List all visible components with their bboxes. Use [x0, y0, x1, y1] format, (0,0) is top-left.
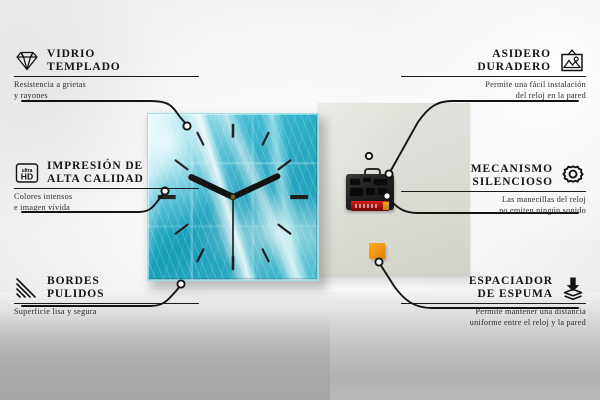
- feature-divider: [401, 76, 586, 77]
- feature-title: BORDES PULIDOS: [47, 275, 104, 301]
- feature-block-silent: MECANISMO SILENCIOSO Las manecillas del …: [401, 163, 586, 216]
- feature-title: MECANISMO SILENCIOSO: [471, 163, 553, 189]
- feature-divider: [14, 303, 199, 304]
- ultra-hd-icon: ultra HD: [14, 161, 40, 185]
- aa-battery: [351, 201, 389, 211]
- feature-divider: [401, 191, 586, 192]
- gear-icon: [560, 164, 586, 189]
- hanging-picture-frame-icon: [558, 49, 586, 74]
- ultra-hd-icon-main-text: HD: [21, 172, 33, 182]
- battery-positive-tip: [383, 202, 389, 210]
- feature-description: Colores intensos e imagen vívida: [14, 192, 199, 213]
- feature-description: Resistencia a grietas y rayones: [14, 80, 199, 101]
- feature-heading-glass: VIDRIO TEMPLADO: [14, 48, 199, 74]
- feature-description: Permite mantener una distancia uniforme …: [401, 307, 586, 328]
- feature-heading-hanger: ASIDERO DURADERO: [401, 48, 586, 74]
- feature-divider: [401, 303, 586, 304]
- feature-heading-edges: BORDES PULIDOS: [14, 275, 199, 301]
- feature-divider: [14, 76, 199, 77]
- feature-title: IMPRESIÓN DE ALTA CALIDAD: [47, 160, 144, 186]
- feature-title: VIDRIO TEMPLADO: [47, 48, 121, 74]
- feature-description: Permite una fácil instalación del reloj …: [401, 80, 586, 101]
- feature-heading-spacer: ESPACIADOR DE ESPUMA: [401, 275, 586, 301]
- feature-block-edges: BORDES PULIDOS Superficie lisa y segura: [14, 275, 199, 318]
- clock-movement-hardware: [346, 168, 394, 210]
- feature-title: ESPACIADOR DE ESPUMA: [469, 275, 553, 301]
- feature-description: Las manecillas del reloj no emiten ningú…: [401, 195, 586, 216]
- feature-block-hanger: ASIDERO DURADERO Permite una fácil insta…: [401, 48, 586, 101]
- battery-label-stripes: [355, 204, 377, 208]
- feature-title: ASIDERO DURADERO: [477, 48, 551, 74]
- arrow-down-onto-layers-icon: [560, 276, 586, 301]
- movement-housing: [346, 174, 394, 210]
- feature-heading-silent: MECANISMO SILENCIOSO: [401, 163, 586, 189]
- feature-block-print: ultra HD IMPRESIÓN DE ALTA CALIDAD Color…: [14, 160, 199, 213]
- feature-divider: [14, 188, 199, 189]
- feature-description: Superficie lisa y segura: [14, 307, 199, 318]
- diamond-icon: [14, 50, 40, 72]
- foam-spacer-pad: [369, 243, 385, 259]
- feature-block-glass: VIDRIO TEMPLADO Resistencia a grietas y …: [14, 48, 199, 101]
- feature-block-spacer: ESPACIADOR DE ESPUMA Permite mantener un…: [401, 275, 586, 328]
- feature-heading-print: ultra HD IMPRESIÓN DE ALTA CALIDAD: [14, 160, 199, 186]
- infographic-canvas: VIDRIO TEMPLADO Resistencia a grietas y …: [0, 0, 600, 400]
- background-floor-shade: [0, 314, 330, 400]
- diagonal-lines-icon: [14, 276, 40, 300]
